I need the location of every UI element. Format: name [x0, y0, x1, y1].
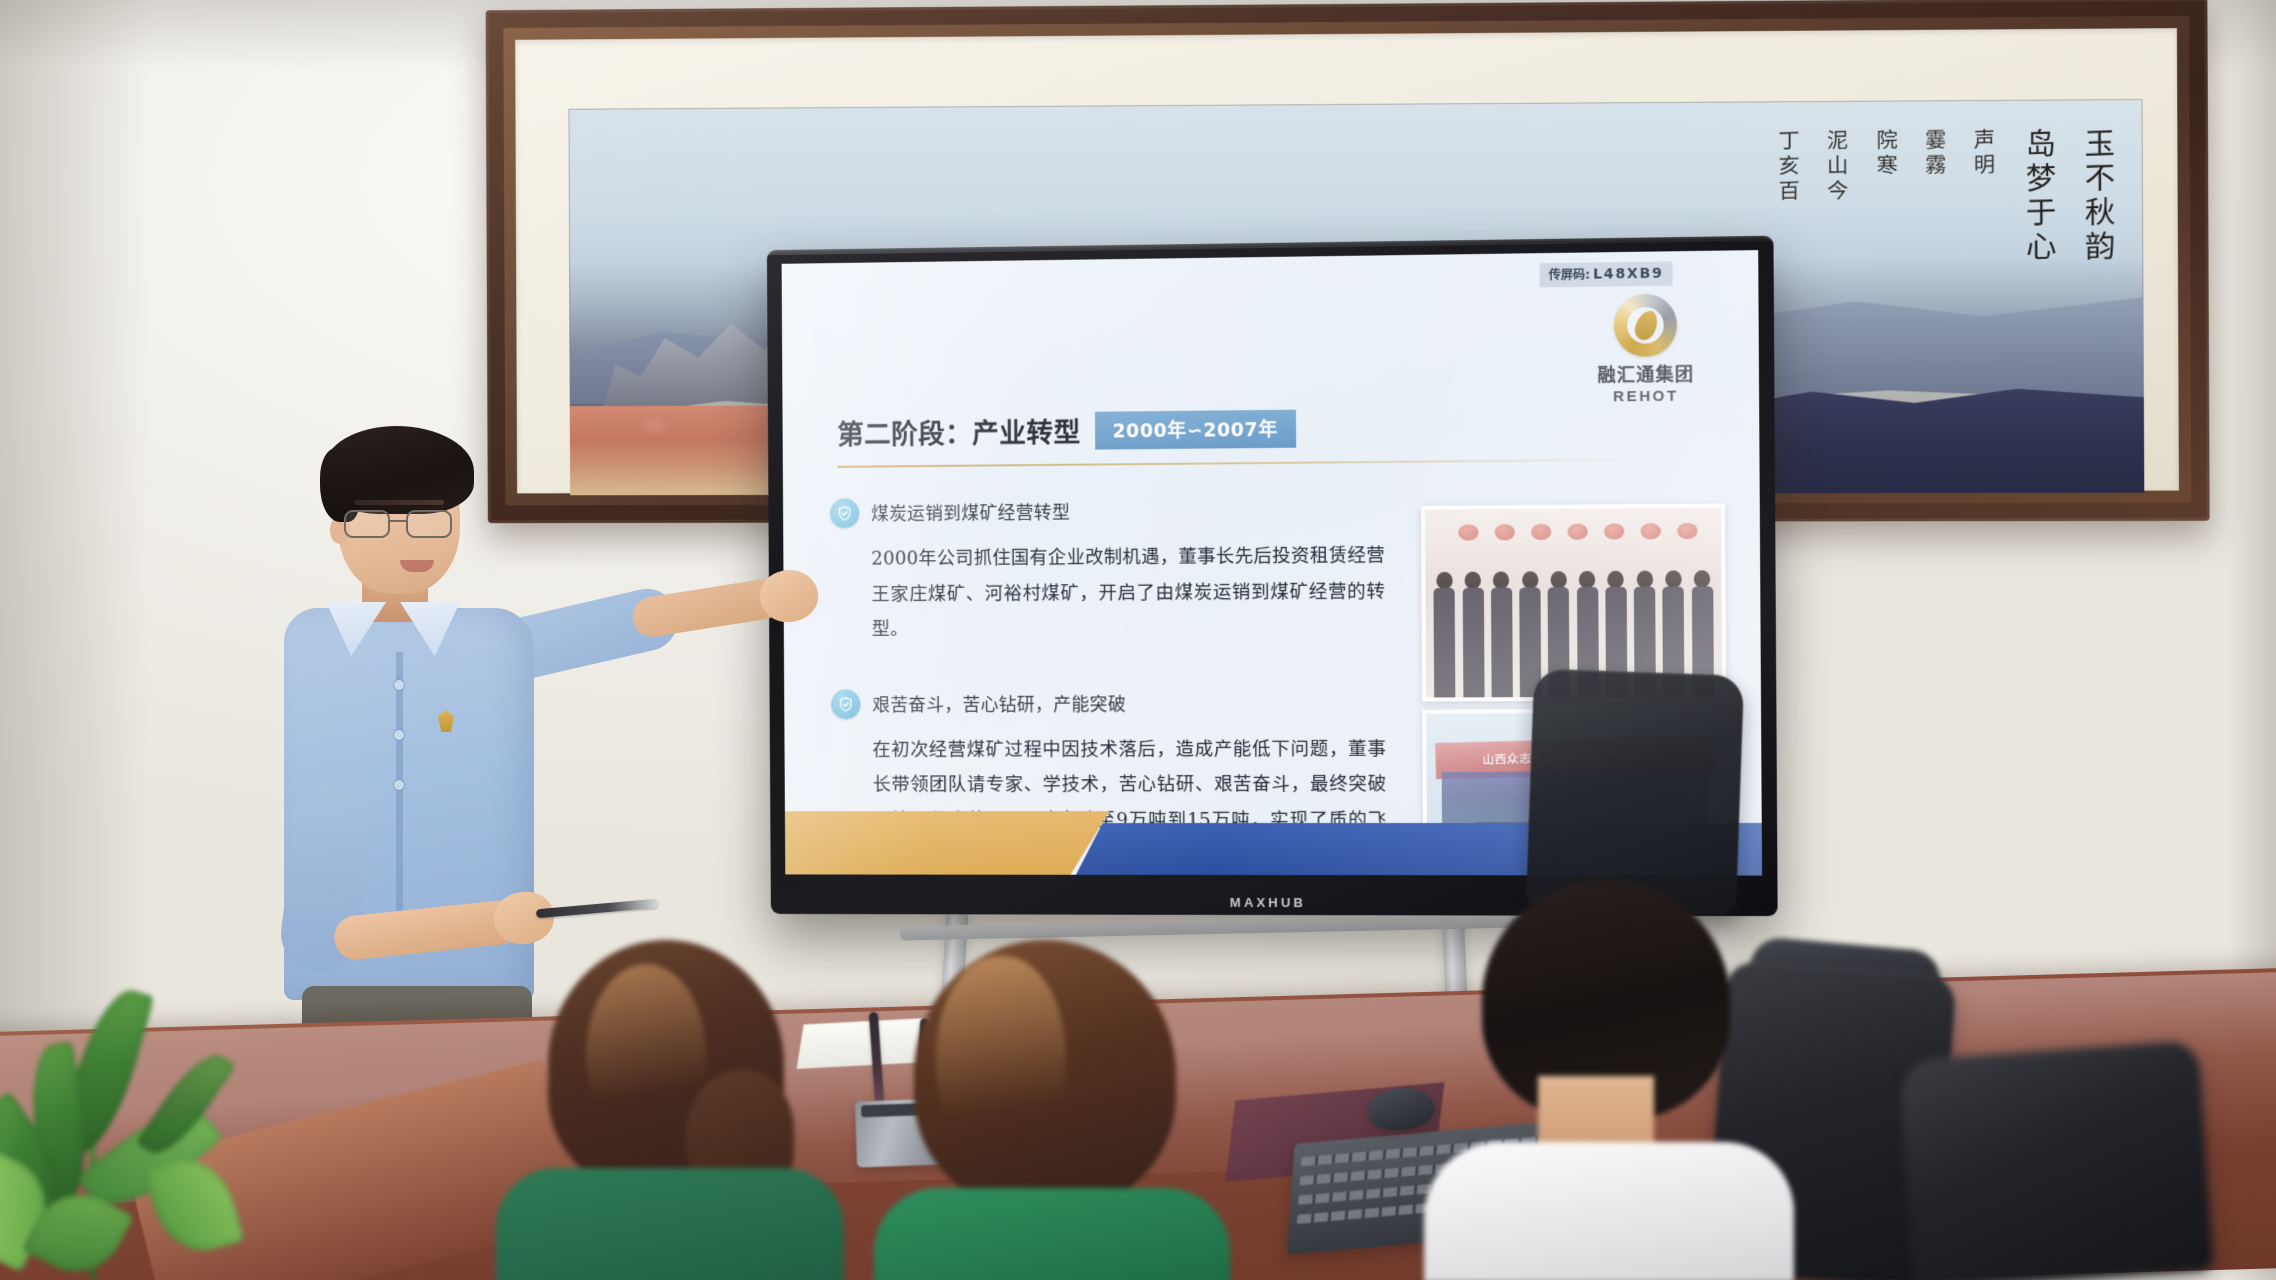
glasses-icon	[342, 508, 466, 542]
screen-cast-code-value: L48XB9	[1593, 266, 1663, 283]
bullet-2-title: 艰苦奋斗，苦心钻研，产能突破	[872, 690, 1126, 717]
calligraphy-column-1: 玉不秋韵	[2080, 127, 2113, 265]
attendee-center-shoulders	[874, 1188, 1230, 1280]
period-badge: 2000年∽2007年	[1094, 409, 1296, 449]
bullet-1-title: 煤炭运销到煤矿经营转型	[871, 499, 1070, 526]
bullet-group-1: 煤炭运销到煤矿经营转型 2000年公司抓住国有企业改制机遇，董事长先后投资租赁经…	[830, 494, 1386, 647]
slide-title-row: 第二阶段：产业转型 2000年∽2007年	[837, 409, 1296, 452]
calligraphy-column-6: 泥山今	[1825, 129, 1848, 205]
shield-check-icon	[830, 498, 860, 528]
presenter-shirt-placket	[396, 652, 403, 952]
calligraphy-column-7: 丁亥百	[1777, 129, 1800, 205]
company-logo: 融汇通集团 REHOT	[1569, 293, 1722, 406]
presenter-eyebrow	[354, 500, 444, 505]
office-chair-back-right[interactable]	[1526, 668, 1744, 915]
company-name-cn: 融汇通集团	[1569, 360, 1722, 388]
attendee-left-shoulders	[496, 1168, 844, 1280]
slide-title: 第二阶段：产业转型	[837, 411, 1081, 452]
screen-cast-code-label: 传屏码:	[1549, 268, 1590, 283]
calligraphy-column-4: 霎霧	[1923, 128, 1946, 179]
plant-leaf	[143, 1148, 244, 1262]
company-name-en: REHOT	[1570, 387, 1723, 406]
title-divider-rule	[837, 459, 1645, 468]
attendee-left-ponytail	[490, 940, 850, 1280]
calligraphy-column-2: 岛梦于心	[2021, 127, 2054, 265]
display-brand-label: MAXHUB	[1230, 895, 1306, 910]
conference-room-scene: 玉不秋韵 岛梦于心 声明 霎霧 院寒 泥山今 丁亥百	[0, 0, 2276, 1280]
calligraphy-column-5: 院寒	[1874, 128, 1897, 179]
presenter-shirt-button	[394, 730, 404, 740]
screen-cast-code-badge: 传屏码:L48XB9	[1539, 261, 1672, 287]
calligraphy-column-3: 声明	[1972, 128, 1995, 179]
office-chair-far-right[interactable]	[1898, 1040, 2213, 1280]
presenter-person	[250, 430, 670, 990]
bullet-2-heading-row: 艰苦奋斗，苦心钻研，产能突破	[831, 687, 1386, 719]
potted-green-plant	[0, 980, 310, 1280]
attendee-center-green-top	[860, 940, 1240, 1280]
presenter-shirt-button	[394, 680, 404, 690]
attendee-right-white-tee	[1430, 880, 1810, 1280]
bullet-1-heading-row: 煤炭运销到煤矿经营转型	[830, 494, 1385, 528]
slide-footer-gold-band	[785, 811, 1110, 875]
bullet-1-body: 2000年公司抓住国有企业改制机遇，董事长先后投资租赁经营王家庄煤矿、河裕村煤矿…	[871, 538, 1385, 647]
presenter-shirt-button	[394, 780, 404, 790]
shield-check-icon	[831, 689, 861, 719]
swirl-logo-icon	[1614, 294, 1677, 357]
attendee-center-hair-highlight	[936, 956, 1066, 1166]
attendee-right-shoulders	[1424, 1142, 1794, 1280]
stylus-pen[interactable]	[536, 899, 658, 919]
